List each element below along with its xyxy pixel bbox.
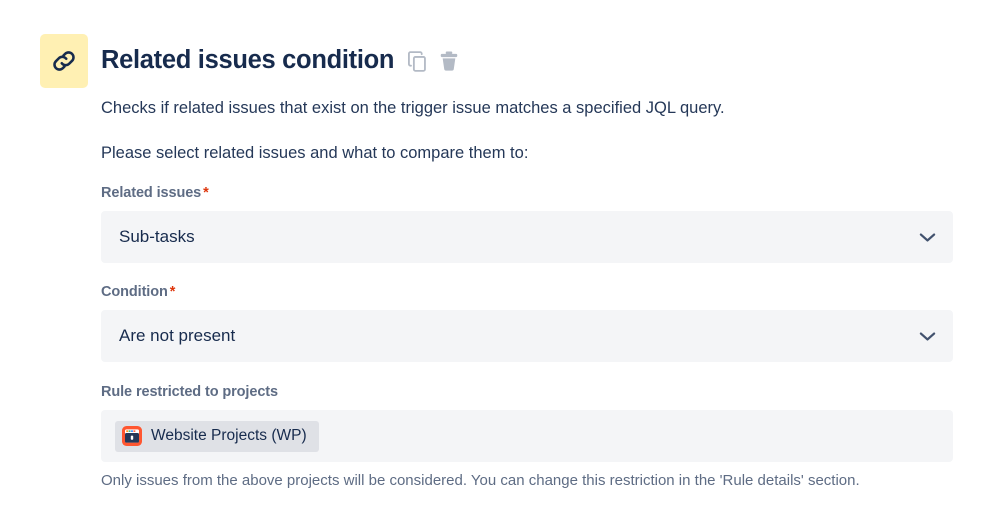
link-chain-icon <box>40 34 88 88</box>
panel-description-line-1: Checks if related issues that exist on t… <box>101 98 725 119</box>
panel-header: Related issues condition <box>40 34 460 88</box>
panel-description-line-2: Please select related issues and what to… <box>101 143 528 164</box>
project-avatar-icon <box>122 426 142 446</box>
required-asterisk: * <box>203 185 209 201</box>
related-issues-label: Related issues* <box>101 185 209 201</box>
rule-restricted-projects-field[interactable]: Website Projects (WP) <box>101 410 953 462</box>
related-issues-select-value: Sub-tasks <box>119 227 919 247</box>
rule-restricted-label: Rule restricted to projects <box>101 384 278 400</box>
duplicate-icon[interactable] <box>407 50 428 73</box>
required-asterisk: * <box>170 284 176 300</box>
condition-label-text: Condition <box>101 284 168 300</box>
condition-label: Condition* <box>101 284 175 300</box>
page-title: Related issues condition <box>101 48 394 74</box>
condition-select[interactable]: Are not present <box>101 310 953 362</box>
delete-icon[interactable] <box>438 50 460 73</box>
related-issues-label-text: Related issues <box>101 185 201 201</box>
rule-restricted-helper-text: Only issues from the above projects will… <box>101 470 946 492</box>
project-chip[interactable]: Website Projects (WP) <box>115 421 319 452</box>
condition-select-value: Are not present <box>119 326 919 346</box>
chevron-down-icon <box>919 232 936 243</box>
related-issues-condition-panel: Related issues condition <box>0 0 999 531</box>
related-issues-select[interactable]: Sub-tasks <box>101 211 953 263</box>
panel-title-wrap: Related issues condition <box>101 48 460 74</box>
title-action-group <box>407 50 460 73</box>
chevron-down-icon <box>919 331 936 342</box>
project-chip-label: Website Projects (WP) <box>151 427 307 445</box>
